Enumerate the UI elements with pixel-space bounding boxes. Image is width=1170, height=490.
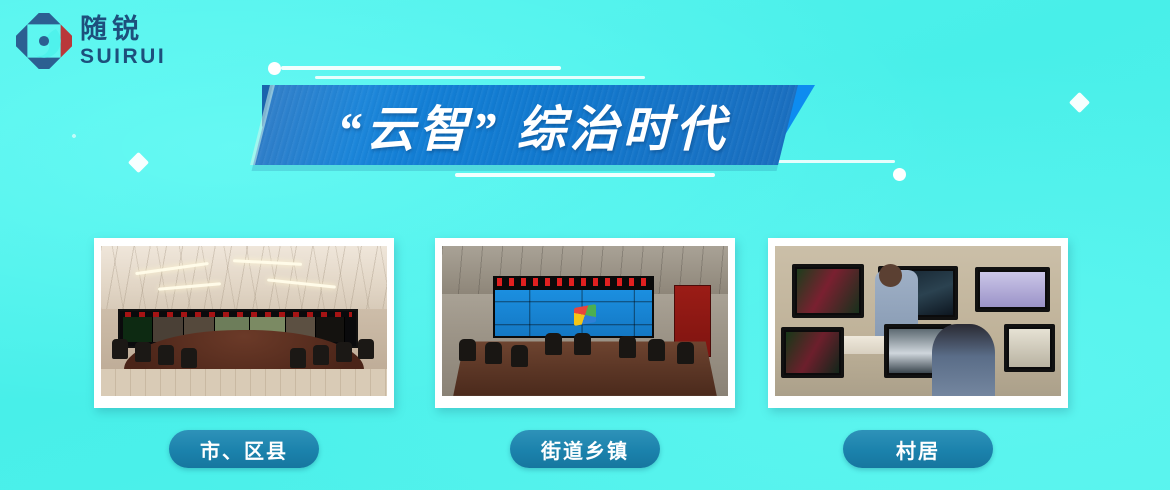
decor-dot-icon	[268, 62, 281, 75]
photo-township-meeting-room	[442, 246, 728, 396]
photo-village-monitor-room	[775, 246, 1061, 396]
card-label-city-district[interactable]: 市、区县	[169, 430, 319, 468]
card-village[interactable]: 村居	[768, 238, 1068, 468]
decor-diamond-icon	[128, 152, 149, 173]
decor-line	[281, 66, 561, 70]
brand-logo[interactable]: 随锐 SUIRUI	[16, 13, 166, 69]
decor-diamond-icon	[71, 133, 77, 139]
decor-line	[455, 173, 715, 177]
card-label-village[interactable]: 村居	[843, 430, 993, 468]
brand-name-cn: 随锐	[80, 16, 166, 43]
card-row: 市、区县	[0, 238, 1170, 478]
page-title: “云智” 综治时代	[293, 87, 773, 163]
card-label-street-town[interactable]: 街道乡镇	[510, 430, 660, 468]
slide-canvas: 随锐 SUIRUI “云智” 综治时代	[0, 0, 1170, 490]
brand-name-en: SUIRUI	[80, 46, 166, 67]
card-city-district[interactable]: 市、区县	[94, 238, 394, 468]
title-banner: “云智” 综治时代	[255, 55, 945, 195]
decor-diamond-icon	[1069, 92, 1090, 113]
photo-frame	[94, 238, 394, 408]
brand-wordmark: 随锐 SUIRUI	[80, 16, 166, 67]
decor-line	[315, 76, 645, 79]
photo-frame	[768, 238, 1068, 408]
decor-dot-icon	[893, 168, 906, 181]
photo-frame	[435, 238, 735, 408]
pinwheel-diamond-logo-icon	[16, 13, 72, 69]
card-street-town[interactable]: 街道乡镇	[435, 238, 735, 468]
photo-command-center	[101, 246, 387, 396]
